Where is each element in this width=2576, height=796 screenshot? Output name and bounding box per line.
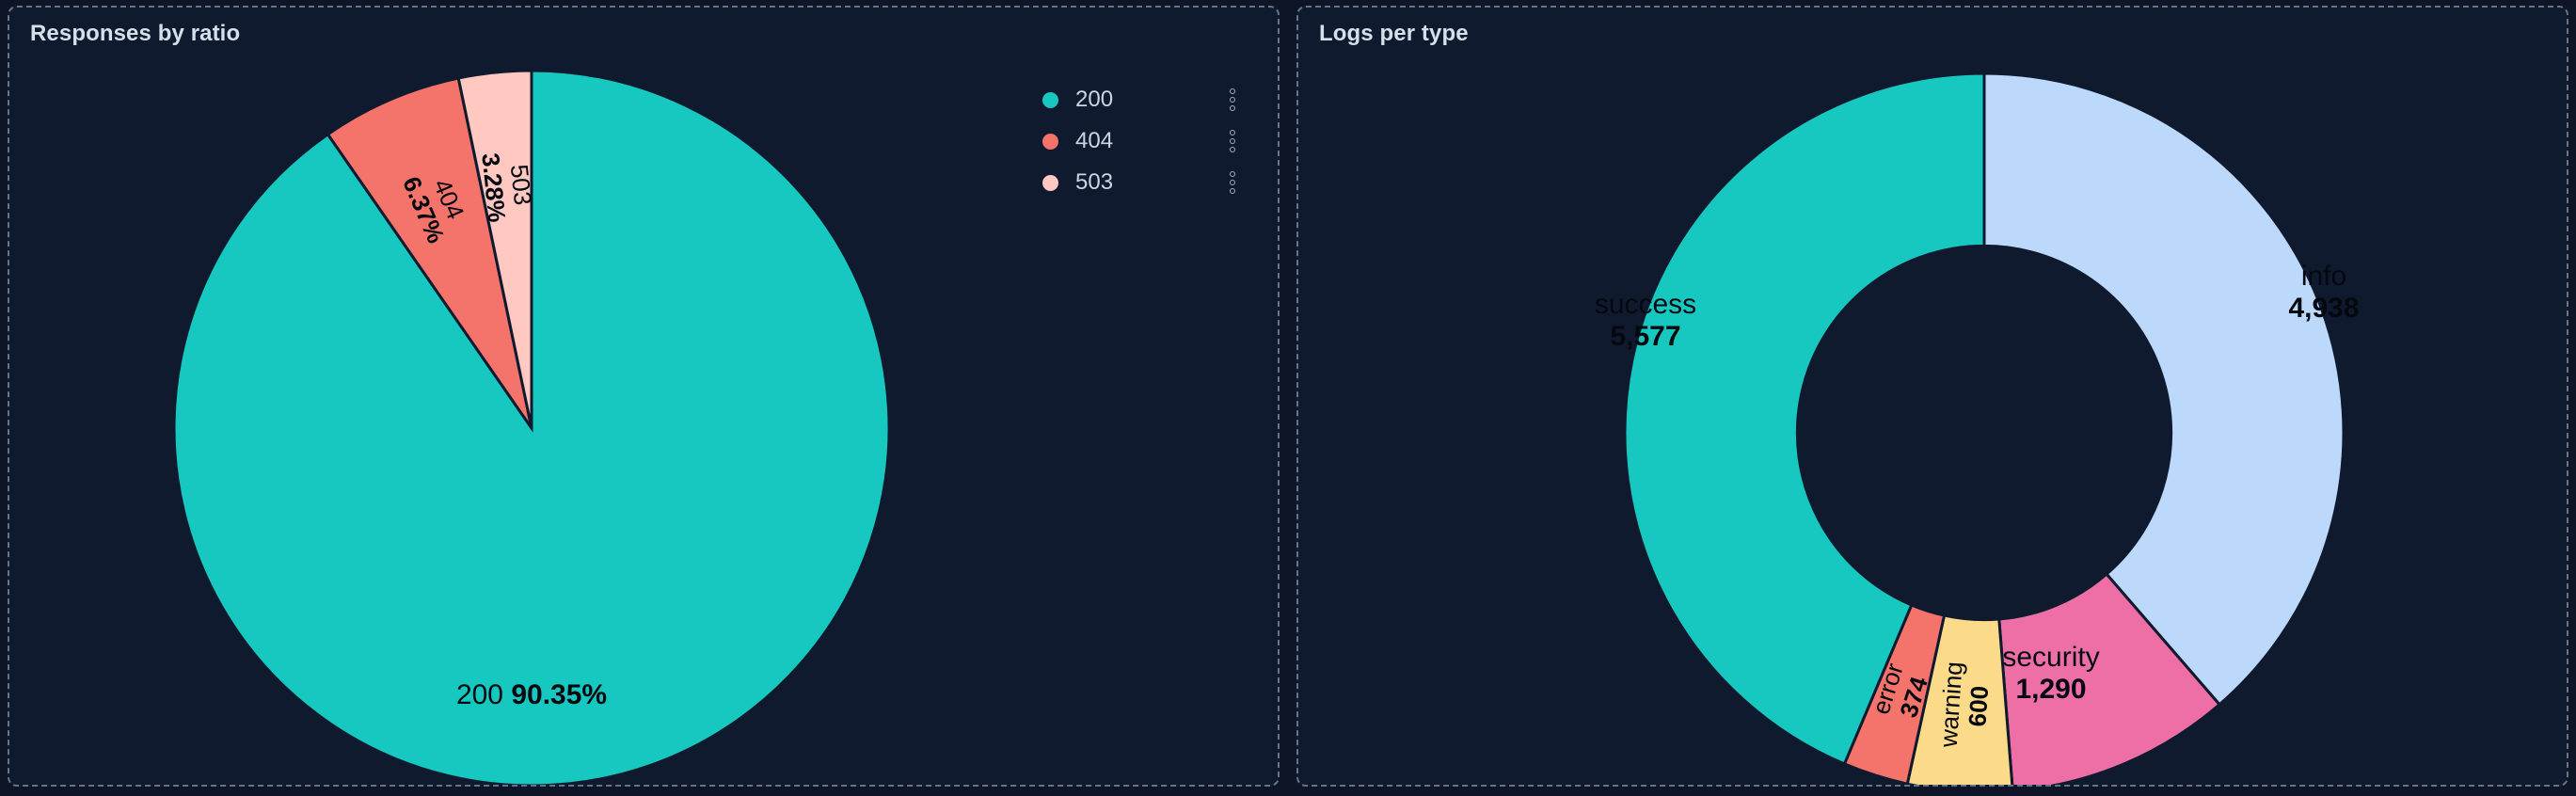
legend-item-label: 200 bbox=[1075, 87, 1216, 113]
legend-responses-by-ratio: 200 404 503 bbox=[1042, 79, 1245, 203]
legend-color-swatch-icon bbox=[1042, 175, 1058, 191]
legend-item[interactable]: 503 bbox=[1042, 162, 1245, 203]
svg-text:200 90.35%: 200 90.35% bbox=[456, 679, 607, 710]
pie-slice-info[interactable] bbox=[1984, 73, 2344, 705]
legend-item-label: 503 bbox=[1075, 169, 1216, 196]
legend-item[interactable]: 200 bbox=[1042, 79, 1245, 120]
slice-label-200: 200 90.35% bbox=[456, 679, 607, 710]
kebab-menu-icon[interactable] bbox=[1220, 171, 1245, 194]
legend-color-swatch-icon bbox=[1042, 92, 1058, 108]
panel-logs-per-type: Logs per type info4,938security1,290warn… bbox=[1296, 6, 2568, 787]
legend-color-swatch-icon bbox=[1042, 134, 1058, 150]
panel-body: info4,938security1,290warning600error374… bbox=[1298, 8, 2567, 785]
legend-item[interactable]: 404 bbox=[1042, 120, 1245, 162]
legend-item-label: 404 bbox=[1075, 128, 1216, 154]
svg-text:security1,290: security1,290 bbox=[2002, 642, 2099, 705]
donut-chart-logs-per-type[interactable]: info4,938security1,290warning600error374… bbox=[1298, 8, 2568, 787]
panel-responses-by-ratio: Responses by ratio 200 90.35%4046.37%503… bbox=[8, 6, 1280, 787]
slice-label-security: security1,290 bbox=[2002, 642, 2099, 705]
kebab-menu-icon[interactable] bbox=[1220, 130, 1245, 152]
dashboard-root: Responses by ratio 200 90.35%4046.37%503… bbox=[0, 0, 2576, 796]
kebab-menu-icon[interactable] bbox=[1220, 88, 1245, 111]
